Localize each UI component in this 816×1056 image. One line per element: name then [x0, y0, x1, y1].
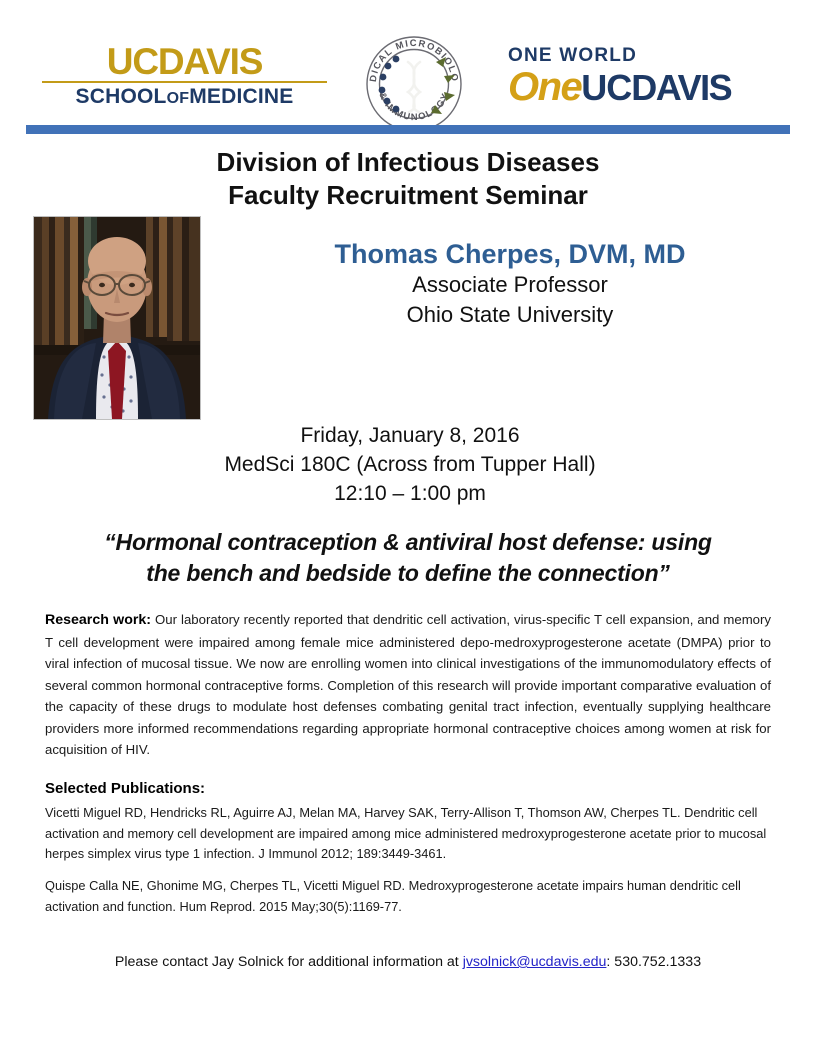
school-of-medicine-text: SCHOOLOFMEDICINE	[42, 85, 327, 109]
svg-text:MEDICAL MICROBIOLOGY: MEDICAL MICROBIOLOGY	[362, 32, 461, 83]
publication-item: Vicetti Miguel RD, Hendricks RL, Aguirre…	[45, 803, 771, 865]
research-work-paragraph: Research work: Our laboratory recently r…	[45, 609, 771, 760]
seminar-title: Division of Infectious Diseases Faculty …	[0, 146, 816, 213]
speaker-photo	[33, 216, 201, 420]
seminar-title-line-1: Division of Infectious Diseases	[0, 146, 816, 179]
one-uc-davis-text: OneUCDAVIS	[508, 67, 778, 107]
uc-davis-wordmark: UCDAVIS	[42, 44, 327, 79]
of-word: OF	[167, 90, 190, 107]
uc-davis-school-of-medicine-logo: UCDAVIS SCHOOLOFMEDICINE	[42, 44, 327, 109]
uc-word: UC	[581, 67, 631, 108]
flyer-page: UCDAVIS SCHOOLOFMEDICINE MEDICAL MICROBI…	[0, 0, 816, 1056]
medical-microbiology-immunology-seal-icon: MEDICAL MICROBIOLOGY & IMMUNOLOGY	[362, 32, 466, 136]
publication-item: Quispe Calla NE, Ghonime MG, Cherpes TL,…	[45, 876, 771, 917]
blue-divider-bar	[26, 125, 790, 134]
event-date: Friday, January 8, 2016	[160, 422, 660, 451]
medicine-word: MEDICINE	[189, 85, 293, 108]
uc-davis-davis-text: DAVIS	[158, 41, 262, 82]
event-time: 12:10 – 1:00 pm	[160, 480, 660, 509]
speaker-block: Thomas Cherpes, DVM, MD Associate Profes…	[210, 238, 810, 330]
event-details: Friday, January 8, 2016 MedSci 180C (Acr…	[160, 422, 660, 508]
contact-footer: Please contact Jay Solnick for additiona…	[0, 954, 816, 970]
speaker-role: Associate Professor	[210, 270, 810, 300]
speaker-institution: Ohio State University	[210, 300, 810, 330]
event-location: MedSci 180C (Across from Tupper Hall)	[160, 451, 660, 480]
contact-phone: : 530.752.1333	[606, 954, 701, 970]
header-logos: UCDAVIS SCHOOLOFMEDICINE MEDICAL MICROBI…	[0, 26, 816, 118]
school-word: SCHOOL	[76, 85, 167, 108]
contact-prefix: Please contact Jay Solnick for additiona…	[115, 954, 463, 970]
research-work-label: Research work:	[45, 612, 151, 628]
talk-title: “Hormonal contraception & antiviral host…	[46, 527, 770, 588]
davis-word: DAVIS	[631, 67, 731, 108]
one-world-text: ONE WORLD	[508, 46, 778, 65]
contact-email-link[interactable]: jvsolnick@ucdavis.edu	[463, 954, 607, 970]
speaker-name: Thomas Cherpes, DVM, MD	[210, 238, 810, 270]
one-world-one-uc-davis-logo: ONE WORLD OneUCDAVIS	[508, 46, 778, 107]
one-word: One	[508, 65, 581, 109]
talk-title-line-2: the bench and bedside to define the conn…	[46, 558, 770, 589]
selected-publications-heading: Selected Publications:	[45, 780, 205, 797]
uc-davis-uc-text: UC	[107, 41, 158, 82]
seminar-title-line-2: Faculty Recruitment Seminar	[0, 179, 816, 212]
talk-title-line-1: “Hormonal contraception & antiviral host…	[46, 527, 770, 558]
research-work-body: Our laboratory recently reported that de…	[45, 612, 771, 757]
